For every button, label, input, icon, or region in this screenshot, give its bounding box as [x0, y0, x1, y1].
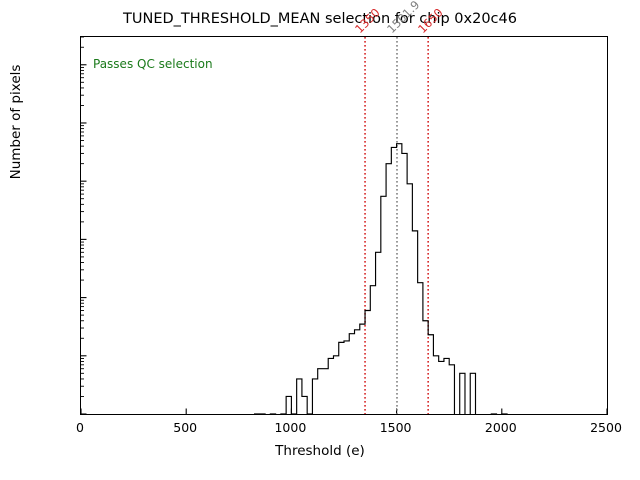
x-tick-marks	[81, 409, 607, 415]
x-tick-label: 1000	[274, 420, 306, 435]
histogram-svg	[81, 37, 607, 414]
histogram-outline	[255, 144, 507, 414]
page-title: TUNED_THRESHOLD_MEAN selection for chip …	[0, 11, 640, 27]
plot-area: Passes QC selection	[80, 36, 608, 415]
x-axis-label: Threshold (e)	[0, 443, 640, 459]
threshold-vlines	[365, 37, 428, 414]
y-tick-marks	[81, 37, 87, 414]
x-tick-label: 0	[76, 420, 84, 435]
x-tick-label: 2000	[485, 420, 517, 435]
x-tick-label: 500	[173, 420, 197, 435]
histogram-figure: TUNED_THRESHOLD_MEAN selection for chip …	[0, 0, 640, 480]
x-tick-label: 1500	[380, 420, 412, 435]
y-axis-label: Number of pixels	[8, 42, 24, 202]
x-tick-label: 2500	[590, 420, 622, 435]
